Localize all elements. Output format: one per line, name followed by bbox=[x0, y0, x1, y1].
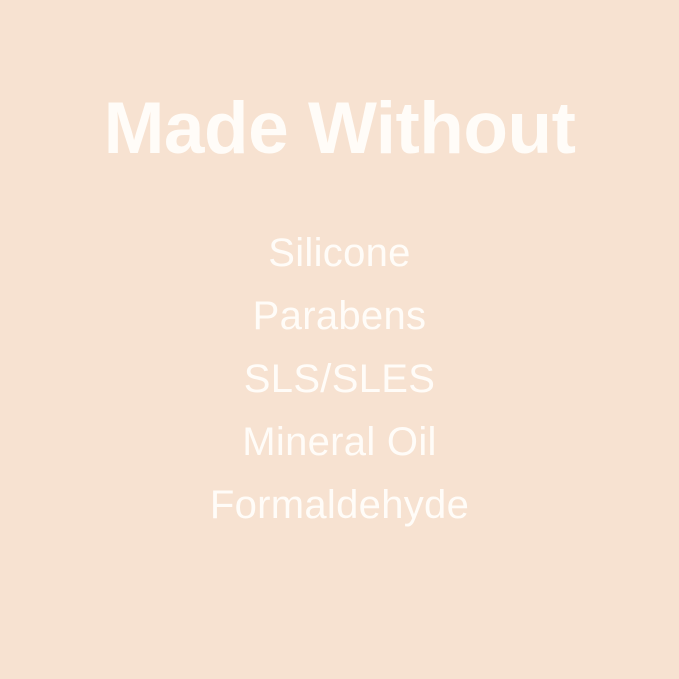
list-item: Mineral Oil bbox=[0, 411, 679, 474]
list-item: Formaldehyde bbox=[0, 474, 679, 537]
list-item: Parabens bbox=[0, 285, 679, 348]
list-item: Silicone bbox=[0, 222, 679, 285]
exclusion-list: Silicone Parabens SLS/SLES Mineral Oil F… bbox=[0, 222, 679, 537]
list-item: SLS/SLES bbox=[0, 348, 679, 411]
made-without-poster: Made Without Silicone Parabens SLS/SLES … bbox=[0, 0, 679, 679]
page-title: Made Without bbox=[0, 92, 679, 165]
